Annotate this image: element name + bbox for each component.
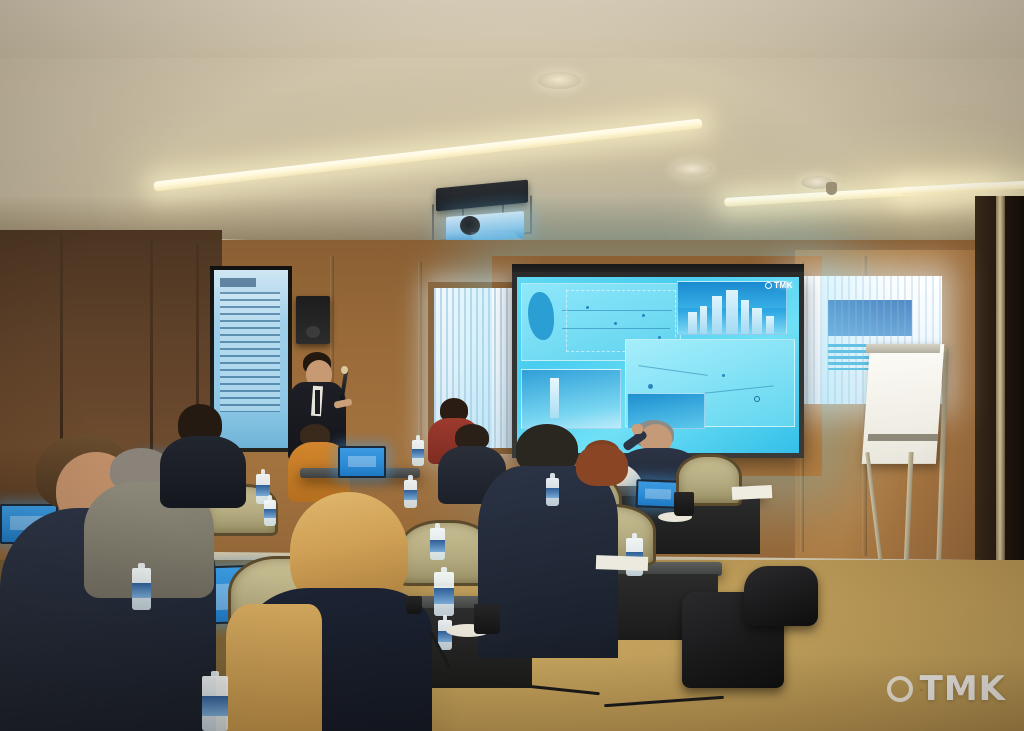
wall-speaker — [296, 296, 330, 344]
flipchart-clip — [866, 344, 941, 353]
bottle-label — [132, 583, 151, 598]
sprinkler-head-icon — [826, 182, 837, 195]
slide-logo-text: TMK — [774, 281, 793, 290]
presenter-tie — [315, 390, 320, 414]
bridge-pylon — [550, 378, 559, 418]
tmk-ring-icon — [765, 282, 772, 289]
bottle-label — [202, 696, 228, 716]
slide-tmk-logo: TMK — [765, 281, 793, 290]
bottle-label — [264, 509, 276, 518]
water-bottle-6 — [434, 572, 454, 616]
water-bottle-8 — [546, 478, 559, 506]
coffee-cup-3 — [406, 596, 422, 614]
laptop-6-content — [645, 489, 671, 500]
pointing-hand — [632, 424, 643, 434]
laptop-5-content — [348, 456, 376, 467]
monitor-header-block — [220, 278, 256, 287]
bottle-label — [546, 488, 559, 498]
tmk-logo-ring-icon — [887, 676, 913, 702]
conference-room-photo: TMK — [0, 0, 1024, 731]
bottle-label — [412, 449, 424, 458]
water-bottle-4 — [404, 480, 417, 508]
downlight-1-icon — [537, 72, 581, 89]
bottle-label — [404, 490, 417, 500]
tmk-watermark: TMK — [887, 669, 1006, 709]
coffee-cup-2 — [674, 492, 694, 516]
paper-notes-1 — [732, 485, 773, 500]
laptop-5[interactable] — [338, 446, 386, 478]
head-hair — [576, 444, 628, 486]
coffee-cup-1 — [474, 604, 500, 634]
flipchart-paper — [862, 344, 945, 464]
paper-notes-2 — [596, 555, 648, 571]
torso — [160, 436, 246, 508]
bottle-label — [430, 540, 445, 552]
flipchart-lower-bar — [868, 434, 939, 441]
wall-monitor — [210, 266, 292, 452]
downlight-2-icon — [672, 162, 712, 177]
bottle-label — [434, 588, 454, 604]
monitor-table-rows — [220, 292, 280, 412]
wall-monitor-screen — [214, 270, 288, 448]
draped-tan-coat — [226, 604, 322, 731]
water-bottle-2 — [132, 568, 151, 610]
water-bottle-11 — [264, 500, 276, 526]
ceiling-soffit — [0, 0, 1024, 58]
tmk-watermark-text: TMK — [920, 669, 1006, 709]
water-bottle-1 — [202, 676, 228, 731]
microphone-head-icon — [341, 366, 348, 374]
wall-panel-edge-2 — [418, 262, 422, 462]
water-bottle-10 — [412, 440, 424, 466]
duffel-bag-2 — [744, 566, 818, 626]
water-bottle-5 — [430, 528, 445, 560]
slide-photo-bridge-tower — [521, 369, 621, 429]
bottle-label — [256, 485, 270, 496]
